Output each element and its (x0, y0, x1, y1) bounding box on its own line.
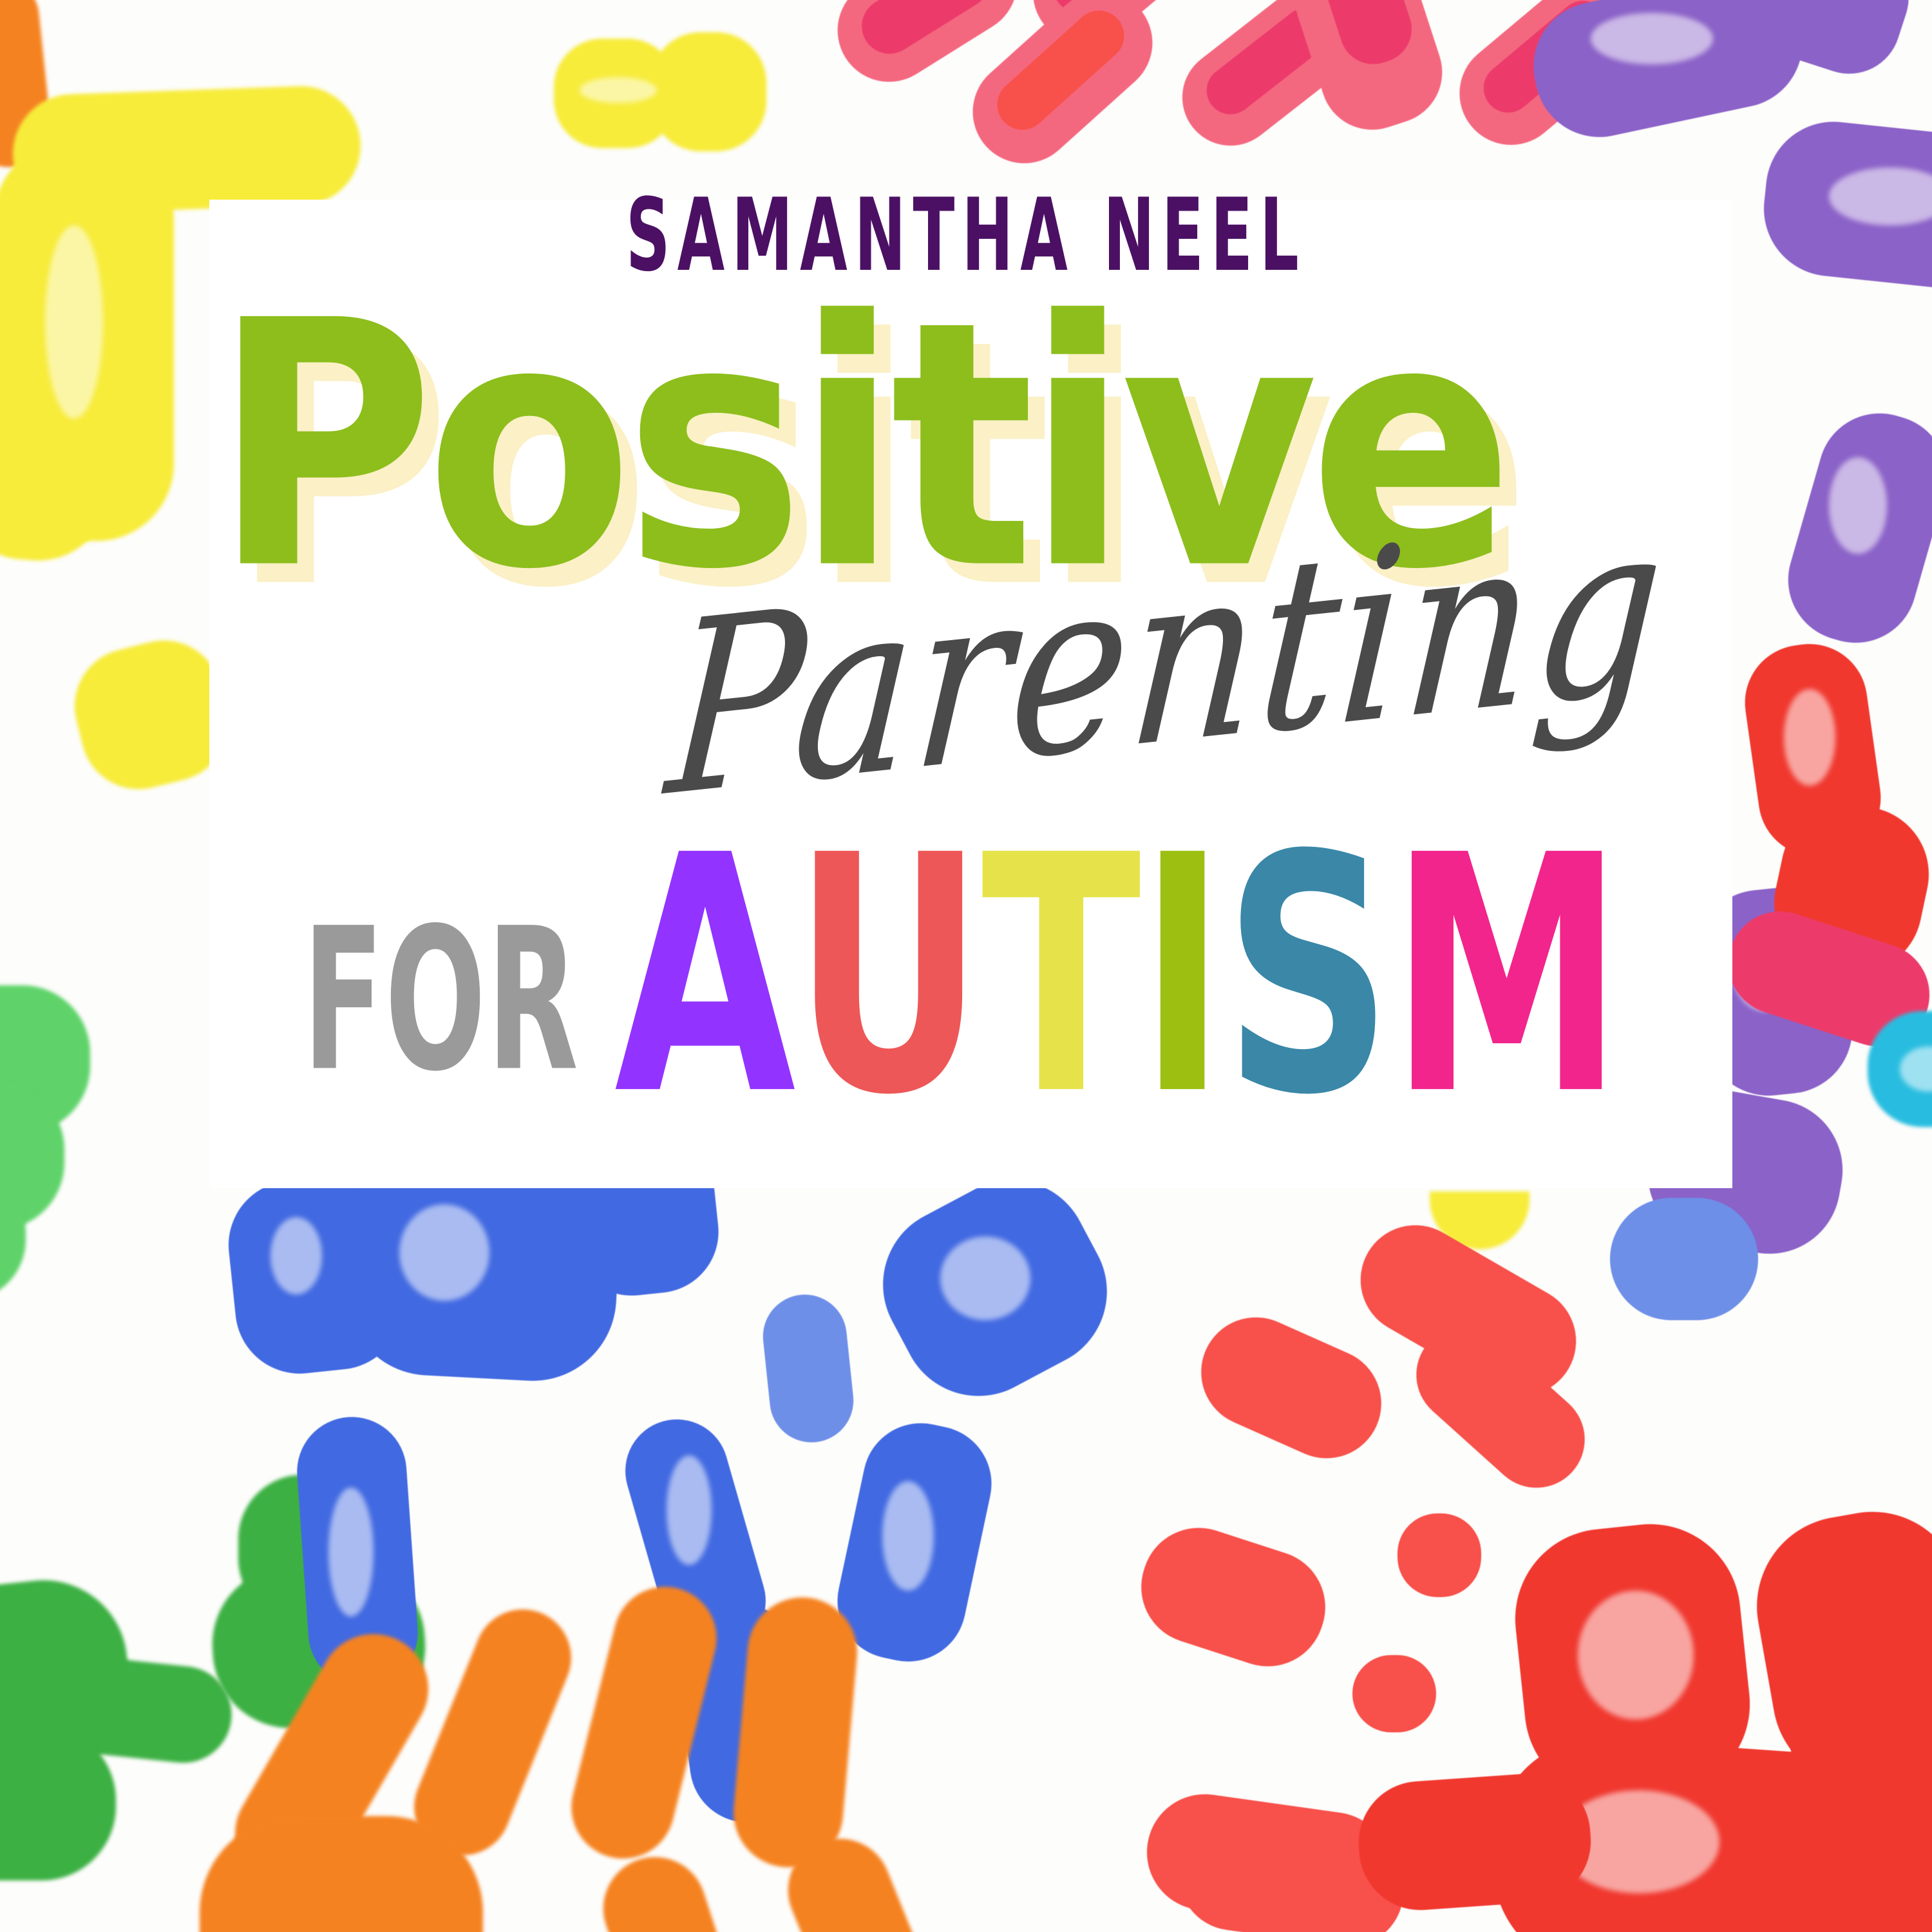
author-name: SAMANTHA NEEL (193, 185, 1739, 286)
subtitle-letter-u: U (793, 813, 981, 1140)
subtitle-letter-m: M (1390, 813, 1622, 1140)
subtitle-letter-t: T (981, 813, 1139, 1140)
subtitle-letter-s: S (1224, 813, 1390, 1140)
book-cover: SAMANTHA NEEL Positive Parenting FOR AUT… (0, 0, 1932, 1932)
subtitle-letter-a: A (614, 813, 793, 1140)
subtitle-line: FOR AUTISM (303, 837, 1785, 1140)
subtitle-for: FOR (303, 902, 580, 1099)
subtitle-autism: AUTISM (614, 813, 1621, 1140)
subtitle-letter-i: I (1139, 813, 1224, 1140)
